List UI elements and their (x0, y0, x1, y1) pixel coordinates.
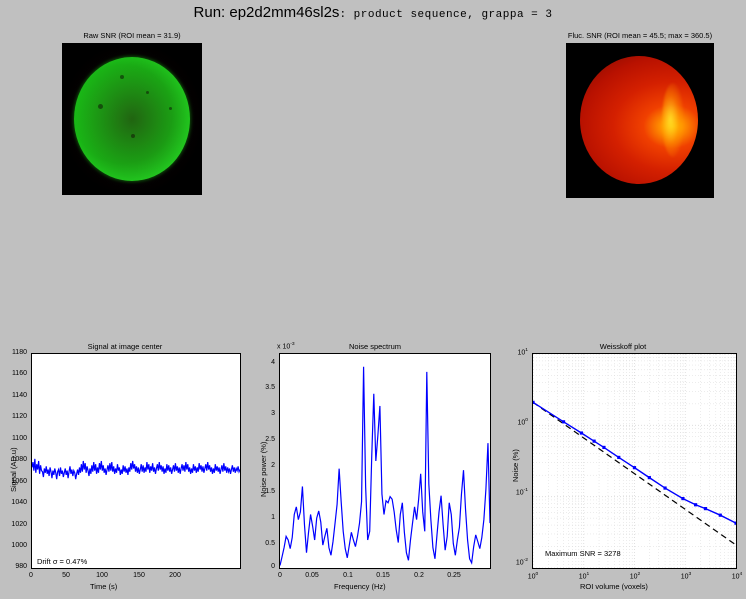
noise-xaxis-label: Frequency (Hz) (334, 582, 386, 591)
weisskoff-xaxis-label: ROI volume (voxels) (580, 582, 648, 591)
noise-xtick: 0.15 (370, 572, 396, 579)
signal-trace (32, 459, 240, 479)
noise-y-multiplier: x 10-3 (277, 342, 295, 350)
signal-ytick: 1100 (0, 435, 27, 442)
signal-xtick: 100 (92, 572, 112, 579)
signal-xaxis-label: Time (s) (90, 582, 117, 591)
signal-xtick: 150 (129, 572, 149, 579)
signal-ytick: 1000 (0, 542, 27, 549)
noise-ytick: 3.5 (250, 384, 275, 391)
noise-ytick: 0 (250, 563, 275, 570)
signal-xtick: 200 (165, 572, 185, 579)
weisskoff-plot-axes (532, 353, 737, 569)
weisskoff-xtick: 103 (675, 572, 697, 580)
weisskoff-plot-title: Weisskoff plot (500, 342, 746, 351)
noise-plot-axes (279, 353, 491, 569)
fluc-snr-phantom-image (566, 43, 714, 198)
signal-plot-axes (31, 353, 241, 569)
weisskoff-ytick: 10-2 (502, 558, 528, 566)
noise-ytick: 4 (250, 359, 275, 366)
report-title: Run: ep2d2mm46sl2s: product sequence, gr… (0, 4, 746, 22)
noise-y-multiplier-base: x 10 (277, 343, 290, 350)
signal-ytick: 1040 (0, 499, 27, 506)
signal-ytick: 1120 (0, 413, 27, 420)
signal-at-image-center-plot: Signal at image center 1180 1160 1140 11… (0, 342, 250, 599)
signal-plot-canvas (32, 354, 240, 568)
noise-y-multiplier-exp: -3 (290, 342, 294, 347)
phantom-spot (98, 104, 103, 109)
phantom-spot (169, 107, 172, 110)
weisskoff-yaxis-label: Noise (%) (511, 449, 520, 482)
noise-ytick: 0.5 (250, 540, 275, 547)
weisskoff-ytick: 100 (502, 418, 528, 426)
drift-annotation: Drift σ = 0.47% (37, 557, 87, 566)
signal-ytick: 1180 (0, 349, 27, 356)
signal-xtick: 0 (21, 572, 41, 579)
signal-yaxis-label: Signal (AD.u) (9, 447, 18, 492)
run-label: Run: ep2d2mm46sl2s (194, 4, 340, 21)
weisskoff-xtick: 104 (726, 572, 746, 580)
weisskoff-ytick: 101 (502, 348, 528, 356)
run-description: : product sequence, grappa = 3 (339, 9, 552, 21)
raw-snr-phantom-disc (74, 57, 190, 181)
raw-snr-phantom-image (62, 43, 202, 195)
noise-xtick: 0.1 (337, 572, 359, 579)
noise-ytick: 3 (250, 410, 275, 417)
noise-yaxis-label: Noise power (%) (259, 442, 268, 497)
signal-ytick: 1140 (0, 392, 27, 399)
noise-plot-canvas (280, 354, 490, 568)
weisskoff-xtick: 100 (522, 572, 544, 580)
weisskoff-plot: Weisskoff plot 101 100 10-1 10-2 100 101… (500, 342, 746, 599)
signal-ytick: 1160 (0, 370, 27, 377)
noise-xtick: 0.25 (441, 572, 467, 579)
maximum-snr-annotation: Maximum SNR = 3278 (545, 549, 621, 558)
weisskoff-gridlines (533, 354, 736, 568)
noise-xtick: 0.2 (408, 572, 430, 579)
fluc-snr-hot-edge (662, 83, 684, 157)
noise-ytick: 1 (250, 514, 275, 521)
fluc-snr-caption: Fluc. SNR (ROI mean = 45.5; max = 360.5) (566, 31, 714, 41)
weisskoff-xtick: 102 (624, 572, 646, 580)
signal-xtick: 50 (56, 572, 76, 579)
phantom-spot (120, 75, 124, 79)
noise-xtick: 0.05 (299, 572, 325, 579)
raw-snr-caption: Raw SNR (ROI mean = 31.9) (62, 31, 202, 41)
weisskoff-plot-canvas (533, 354, 736, 568)
signal-ytick: 980 (0, 563, 27, 570)
noise-trace (280, 367, 490, 566)
phantom-spot (146, 91, 149, 94)
signal-plot-title: Signal at image center (0, 342, 250, 351)
noise-xtick: 0 (270, 572, 290, 579)
signal-ytick: 1020 (0, 521, 27, 528)
phantom-spot (131, 134, 135, 138)
noise-spectrum-plot: Noise spectrum x 10-3 4 3.5 3 2.5 2 1.5 … (250, 342, 500, 599)
weisskoff-ytick: 10-1 (502, 488, 528, 496)
weisskoff-xtick: 101 (573, 572, 595, 580)
